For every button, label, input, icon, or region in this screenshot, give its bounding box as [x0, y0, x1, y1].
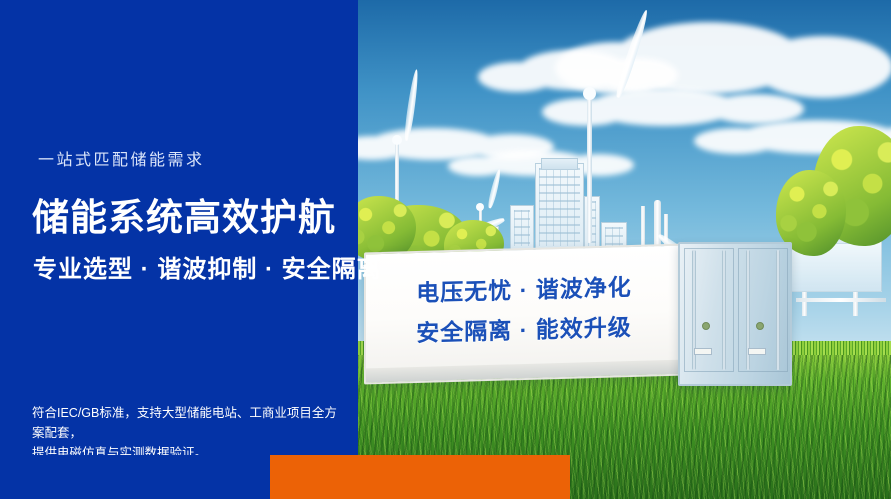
- city-building: [535, 163, 584, 251]
- hero-text-panel: 一站式匹配储能需求 储能系统高效护航 专业选型 · 谐波抑制 · 安全隔离 符合…: [0, 0, 358, 455]
- hero-photo-scene: 电压无忧 · 谐波净化 安全隔离 · 能效升级: [358, 0, 891, 499]
- container-door-label: [748, 348, 766, 355]
- substation-post: [853, 292, 858, 316]
- cloud-icon: [518, 50, 628, 90]
- container-door-bar: [776, 250, 780, 370]
- energy-storage-container: 电压无忧 · 谐波净化 安全隔离 · 能效升级: [364, 242, 792, 387]
- container-door-handle: [756, 322, 764, 330]
- container-side-panel: 电压无忧 · 谐波净化 安全隔离 · 能效升级: [364, 244, 684, 385]
- city-building: [541, 158, 578, 170]
- turbine-mast: [587, 93, 592, 243]
- turbine-hub: [392, 135, 402, 145]
- container-doors: [678, 242, 792, 386]
- building-windows: [539, 168, 580, 246]
- hero-subline: 专业选型 · 谐波抑制 · 安全隔离: [33, 249, 382, 284]
- hero-caption-line-1: 符合IEC/GB标准，支持大型储能电站、工商业项目全方案配套，: [32, 403, 348, 443]
- turbine-hub: [583, 87, 596, 100]
- hero-eyebrow: 一站式匹配储能需求: [38, 146, 205, 170]
- container-door-handle: [702, 322, 710, 330]
- hero-banner: 电压无忧 · 谐波净化 安全隔离 · 能效升级 一站式匹配储能需求 储能系统高效…: [0, 0, 891, 499]
- hero-panel-footer: [0, 455, 270, 499]
- cloud-icon: [588, 88, 738, 126]
- building-windows: [514, 210, 530, 246]
- hero-headline: 储能系统高效护航: [32, 187, 336, 241]
- container-banner-line-2: 安全隔离 · 能效升级: [366, 308, 682, 353]
- wind-turbine-large-icon: [586, 93, 592, 243]
- container-banner-line-1: 电压无忧 · 谐波净化: [366, 268, 682, 313]
- orange-accent-bar[interactable]: [270, 455, 570, 499]
- container-door-label: [694, 348, 712, 355]
- fence-rail: [796, 298, 886, 302]
- hero-caption: 符合IEC/GB标准，支持大型储能电站、工商业项目全方案配套， 提供电磁仿真与实…: [32, 403, 348, 463]
- turbine-hub: [476, 203, 484, 211]
- substation-post: [802, 292, 807, 316]
- container-door-bar: [722, 250, 726, 370]
